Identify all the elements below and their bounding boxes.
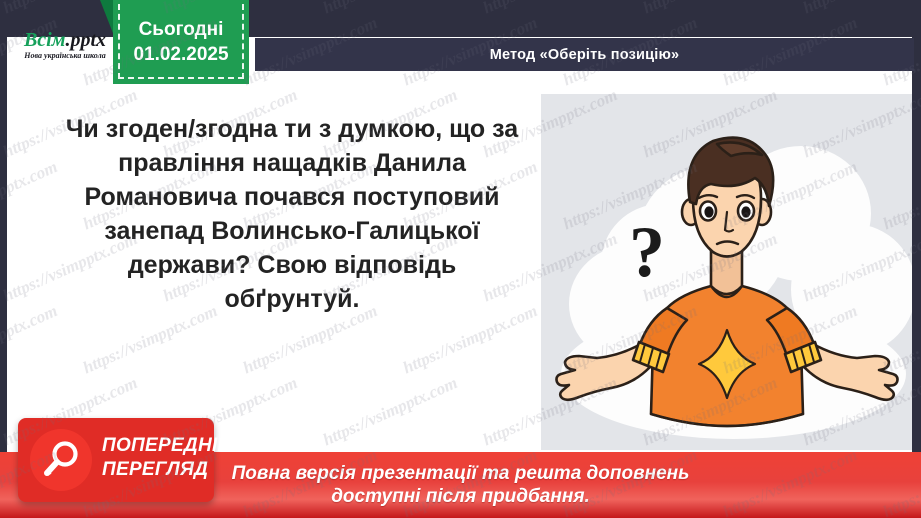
- preview-badge-line-1: ПОПЕРЕДНІЙ: [102, 434, 232, 458]
- page-title: Метод «Оберіть позицію»: [490, 47, 680, 63]
- confused-boy-illustration: [541, 94, 912, 450]
- presentation-slide: Всім.pptx Нова українська школа Сьогодні…: [0, 0, 921, 518]
- preview-badge-line-2: ПЕРЕГЛЯД: [102, 458, 232, 482]
- watermark-text: https://vsimpptx.com: [480, 0, 621, 18]
- brand-primary: Всім: [24, 29, 65, 51]
- slide-header-bar: Метод «Оберіть позицію»: [255, 38, 914, 71]
- preview-badge[interactable]: ПОПЕРЕДНІЙ ПЕРЕГЛЯД: [18, 418, 214, 502]
- preview-badge-text: ПОПЕРЕДНІЙ ПЕРЕГЛЯД: [102, 434, 232, 482]
- banner-line-2: доступні після придбання.: [331, 485, 590, 508]
- date-tag-label: Сьогодні: [139, 19, 224, 41]
- brand-tagline: Нова українська школа: [10, 52, 120, 60]
- watermark-text: https://vsimpptx.com: [640, 0, 781, 18]
- banner-line-1: Повна версія презентації та решта доповн…: [232, 462, 690, 485]
- question-text: Чи згоден/згодна ти з думкою, що за прав…: [62, 112, 522, 316]
- illustration-panel: ?: [541, 94, 912, 450]
- date-tag-value: 01.02.2025: [133, 44, 228, 66]
- watermark-text: https://vsimpptx.com: [800, 0, 921, 18]
- date-tag: Сьогодні 01.02.2025: [113, 0, 249, 84]
- watermark-text: https://vsimpptx.com: [320, 0, 461, 18]
- magnifier-icon: [30, 429, 92, 491]
